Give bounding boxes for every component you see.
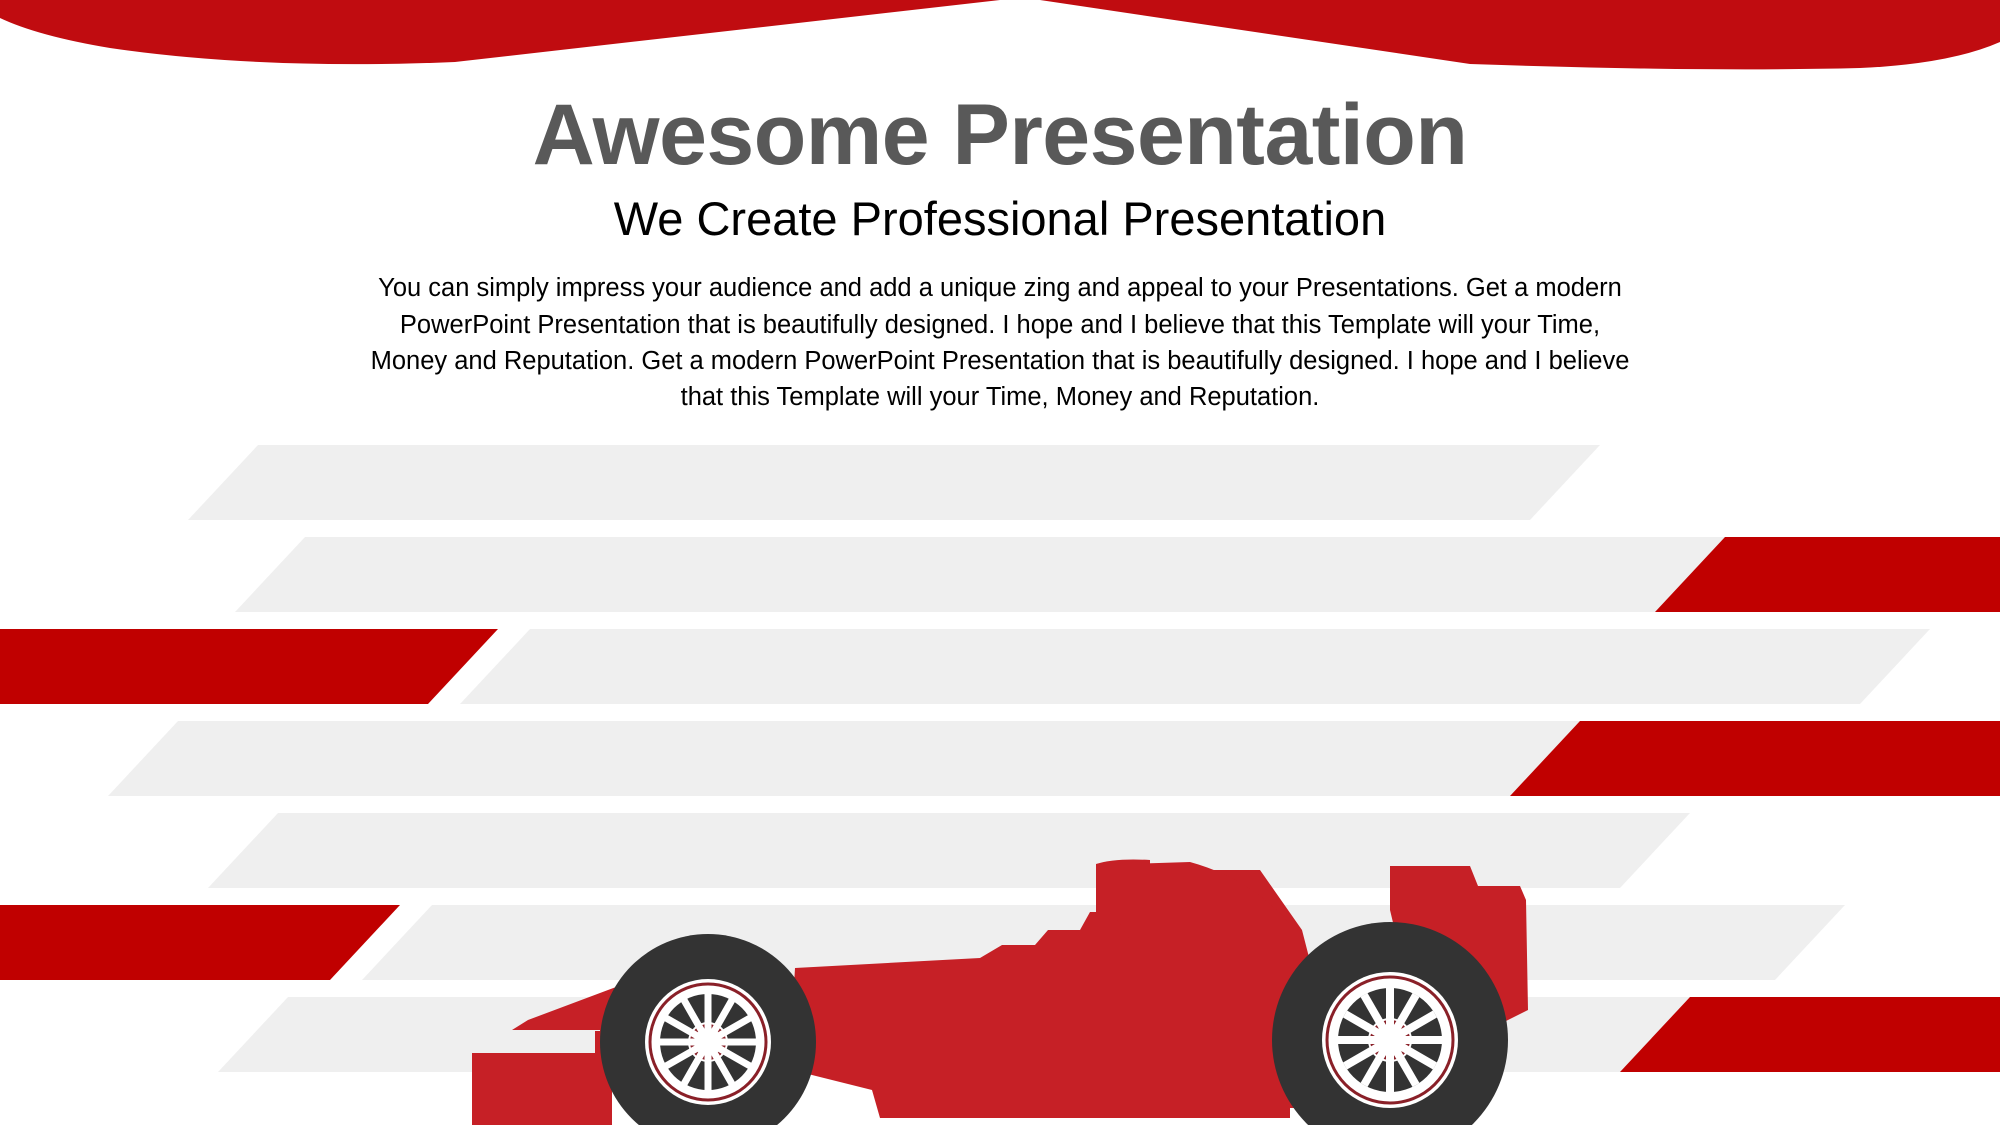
slide-body-text: You can simply impress your audience and… — [360, 270, 1640, 415]
presentation-slide: Awesome Presentation We Create Professio… — [0, 0, 2000, 1125]
front-wheel — [600, 934, 816, 1125]
airbox — [1096, 860, 1150, 919]
slide-subtitle: We Create Professional Presentation — [0, 194, 2000, 245]
slide-text-block: Awesome Presentation We Create Professio… — [0, 92, 2000, 415]
page-title: Awesome Presentation — [0, 92, 2000, 180]
front-wing — [472, 1031, 612, 1125]
